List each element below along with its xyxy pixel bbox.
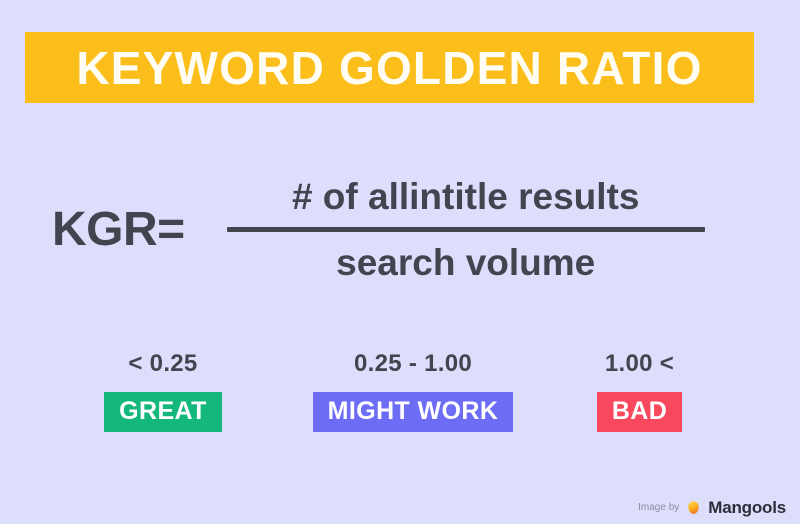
formula-fraction: # of allintitle results search volume — [227, 176, 705, 284]
title-banner: KEYWORD GOLDEN RATIO — [25, 32, 754, 103]
status-badge-great: GREAT — [104, 392, 222, 432]
formula-numerator: # of allintitle results — [292, 176, 639, 227]
attribution-footer: Image by Mangools — [638, 499, 786, 516]
formula-denominator: search volume — [336, 232, 595, 285]
attribution-prefix: Image by — [638, 503, 679, 513]
mango-icon — [686, 500, 701, 515]
range-item-great: < 0.25 GREAT — [25, 352, 301, 432]
range-value-great: < 0.25 — [128, 352, 197, 376]
formula-left-label: KGR= — [52, 206, 185, 254]
status-badge-bad: BAD — [597, 392, 682, 432]
range-value-bad: 1.00 < — [605, 352, 674, 376]
range-legend: < 0.25 GREAT 0.25 - 1.00 MIGHT WORK 1.00… — [25, 352, 754, 438]
kgr-formula: KGR= # of allintitle results search volu… — [0, 160, 800, 300]
range-item-might-work: 0.25 - 1.00 MIGHT WORK — [301, 352, 525, 432]
brand-name: Mangools — [708, 499, 786, 516]
status-badge-might-work: MIGHT WORK — [313, 392, 514, 432]
infographic-canvas: KEYWORD GOLDEN RATIO KGR= # of allintitl… — [0, 0, 800, 524]
range-value-might-work: 0.25 - 1.00 — [354, 352, 472, 376]
page-title: KEYWORD GOLDEN RATIO — [76, 45, 702, 91]
range-item-bad: 1.00 < BAD — [525, 352, 754, 432]
